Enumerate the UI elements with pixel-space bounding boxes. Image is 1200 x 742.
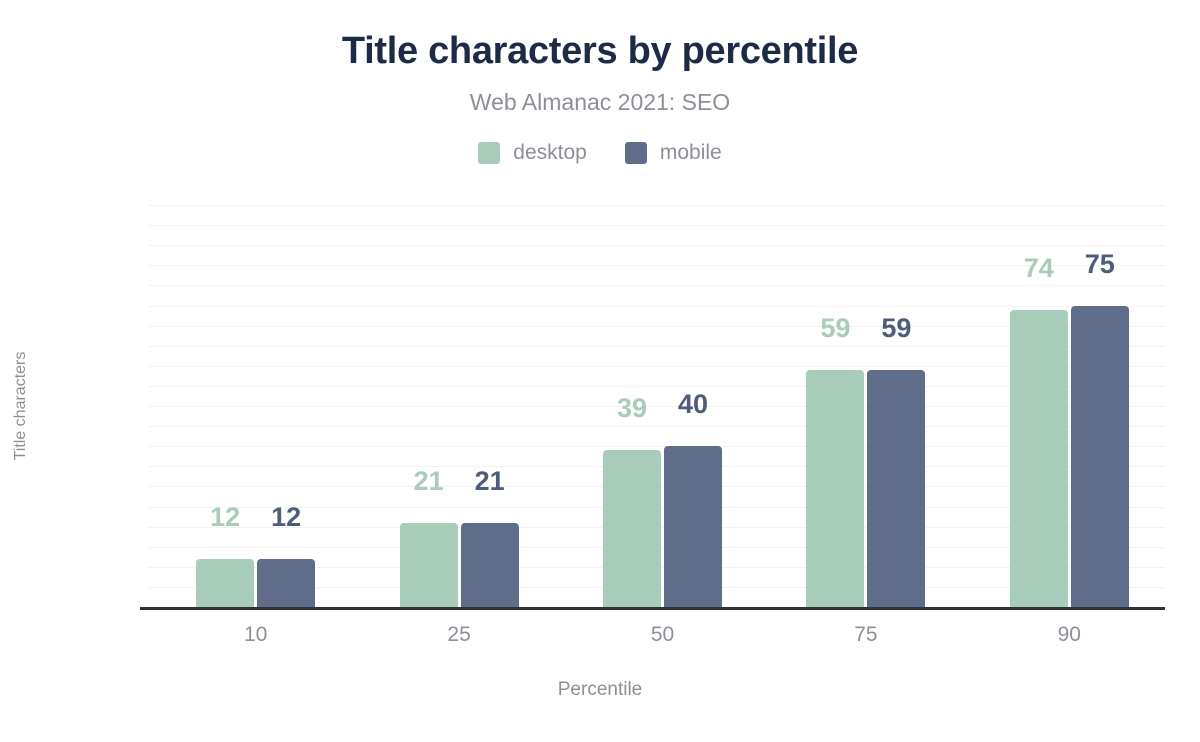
chart-subtitle: Web Almanac 2021: SEO [0,89,1200,116]
bar-mobile-50[interactable] [664,446,722,607]
bar-desktop-50[interactable] [603,450,661,607]
chart-legend: desktop mobile [0,141,1200,165]
legend-label-desktop: desktop [513,141,587,165]
bar-mobile-10[interactable] [257,559,315,607]
bar-group: 7475 [1010,205,1129,607]
bar-group: 2121 [400,205,519,607]
bar-value-label-mobile-10: 12 [257,502,315,533]
chart-figure: Title characters by percentile Web Alman… [0,0,1200,742]
bar-value-label-mobile-75: 59 [867,313,925,344]
bar-value-label-desktop-25: 21 [400,466,458,497]
x-axis-title: Percentile [0,679,1200,701]
x-axis-tick-label: 25 [400,623,519,647]
bar-mobile-75[interactable] [867,370,925,607]
x-axis-tick-label: 75 [806,623,925,647]
legend-item-desktop[interactable]: desktop [478,141,587,165]
x-axis-tick-label: 90 [1010,623,1129,647]
bar-desktop-75[interactable] [806,370,864,607]
bar-mobile-25[interactable] [461,523,519,607]
bar-group: 5959 [806,205,925,607]
bar-value-label-mobile-25: 21 [461,466,519,497]
bar-value-label-desktop-90: 74 [1010,253,1068,284]
chart-title: Title characters by percentile [0,30,1200,73]
legend-swatch-desktop [478,142,500,164]
bar-value-label-desktop-10: 12 [196,502,254,533]
x-axis-tick-label: 50 [603,623,722,647]
bar-desktop-10[interactable] [196,559,254,607]
legend-swatch-mobile [625,142,647,164]
x-axis-tick-label: 10 [196,623,315,647]
legend-item-mobile[interactable]: mobile [625,141,722,165]
plot-area: 0255075100 12122121394059597475 10255075… [148,205,1165,607]
y-axis-title: Title characters [12,352,30,461]
bar-desktop-25[interactable] [400,523,458,607]
bar-value-label-desktop-75: 59 [806,313,864,344]
bar-value-label-desktop-50: 39 [603,393,661,424]
x-axis-line [140,607,1165,610]
bar-desktop-90[interactable] [1010,310,1068,607]
bar-value-label-mobile-50: 40 [664,389,722,420]
bar-group: 1212 [196,205,315,607]
bar-group: 3940 [603,205,722,607]
legend-label-mobile: mobile [660,141,722,165]
bar-value-label-mobile-90: 75 [1071,249,1129,280]
bar-mobile-90[interactable] [1071,306,1129,608]
